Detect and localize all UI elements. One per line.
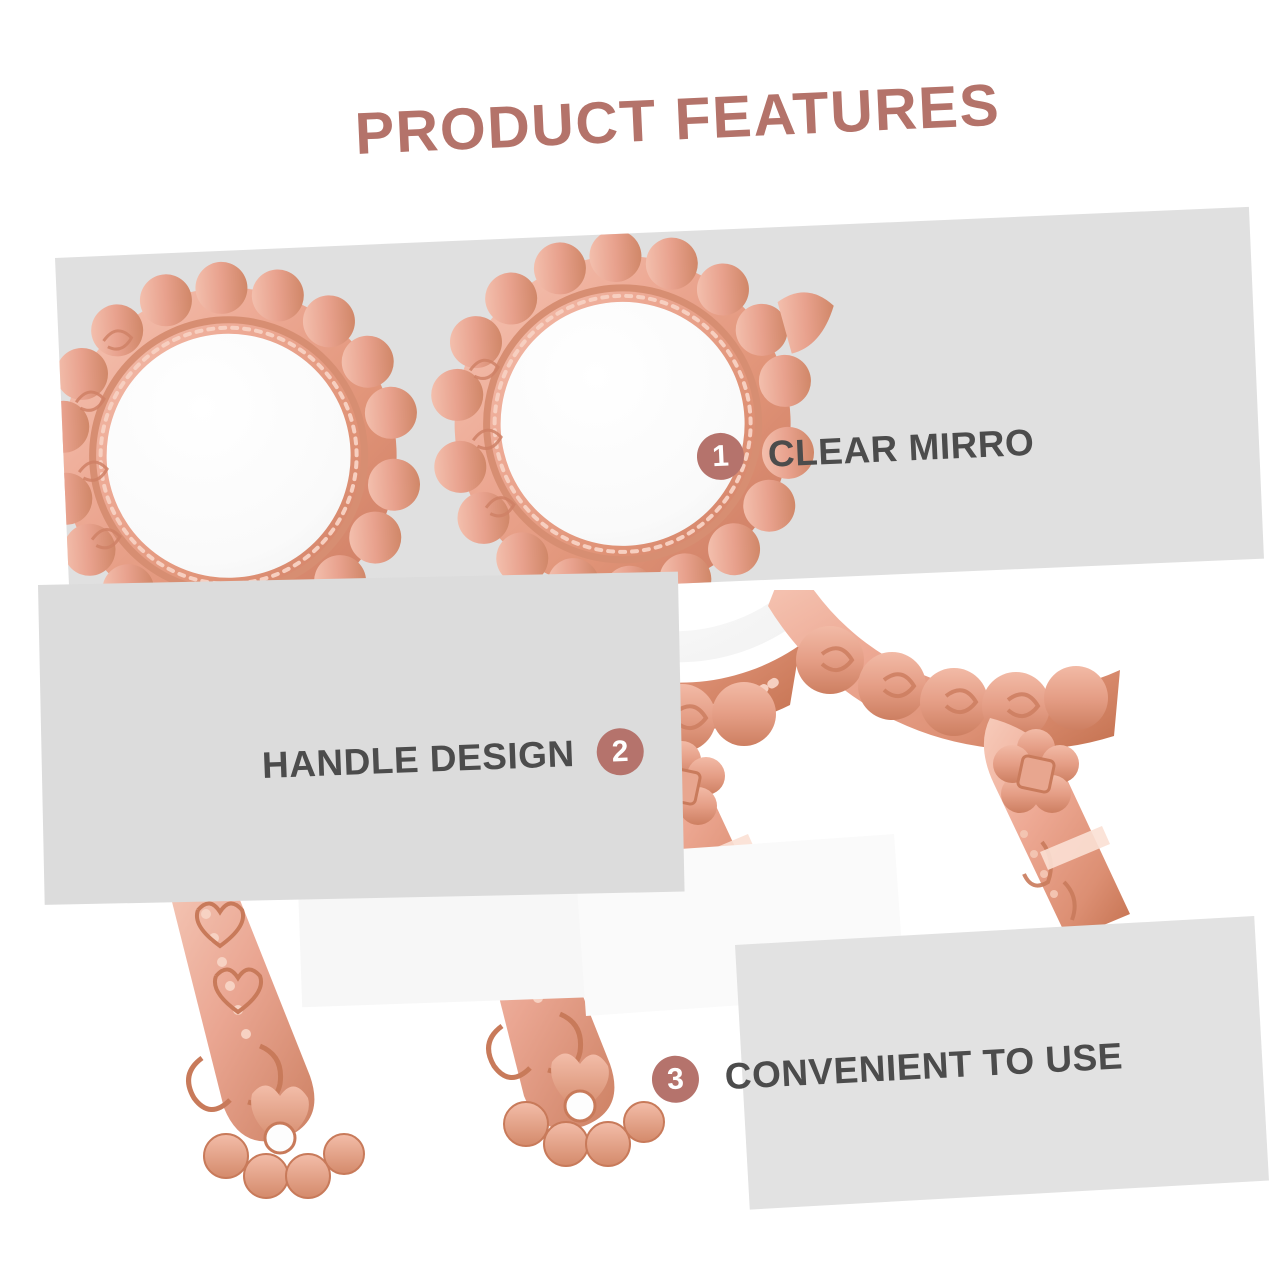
feature-label-1: CLEAR MIRRO xyxy=(767,421,1035,475)
page-title: PRODUCT FEATURES xyxy=(354,73,1036,166)
mirror-heads-illustration xyxy=(55,207,1264,610)
feature-label-2: HANDLE DESIGN xyxy=(261,733,575,787)
mirror-head-right xyxy=(424,222,820,610)
mirror-bottom-right xyxy=(768,590,1120,750)
feature-badge-2: 2 xyxy=(596,727,645,776)
handle-right xyxy=(984,718,1130,940)
feature-badge-3: 3 xyxy=(651,1055,700,1104)
infographic-canvas: PRODUCT FEATURES 1 CLEAR MIRRO HANDLE DE… xyxy=(0,0,1282,1282)
product-photo-mirrors xyxy=(55,207,1264,610)
mirror-scallop-tip xyxy=(777,291,836,354)
mirror-head-left xyxy=(55,254,427,610)
feature-badge-1: 1 xyxy=(696,432,745,481)
